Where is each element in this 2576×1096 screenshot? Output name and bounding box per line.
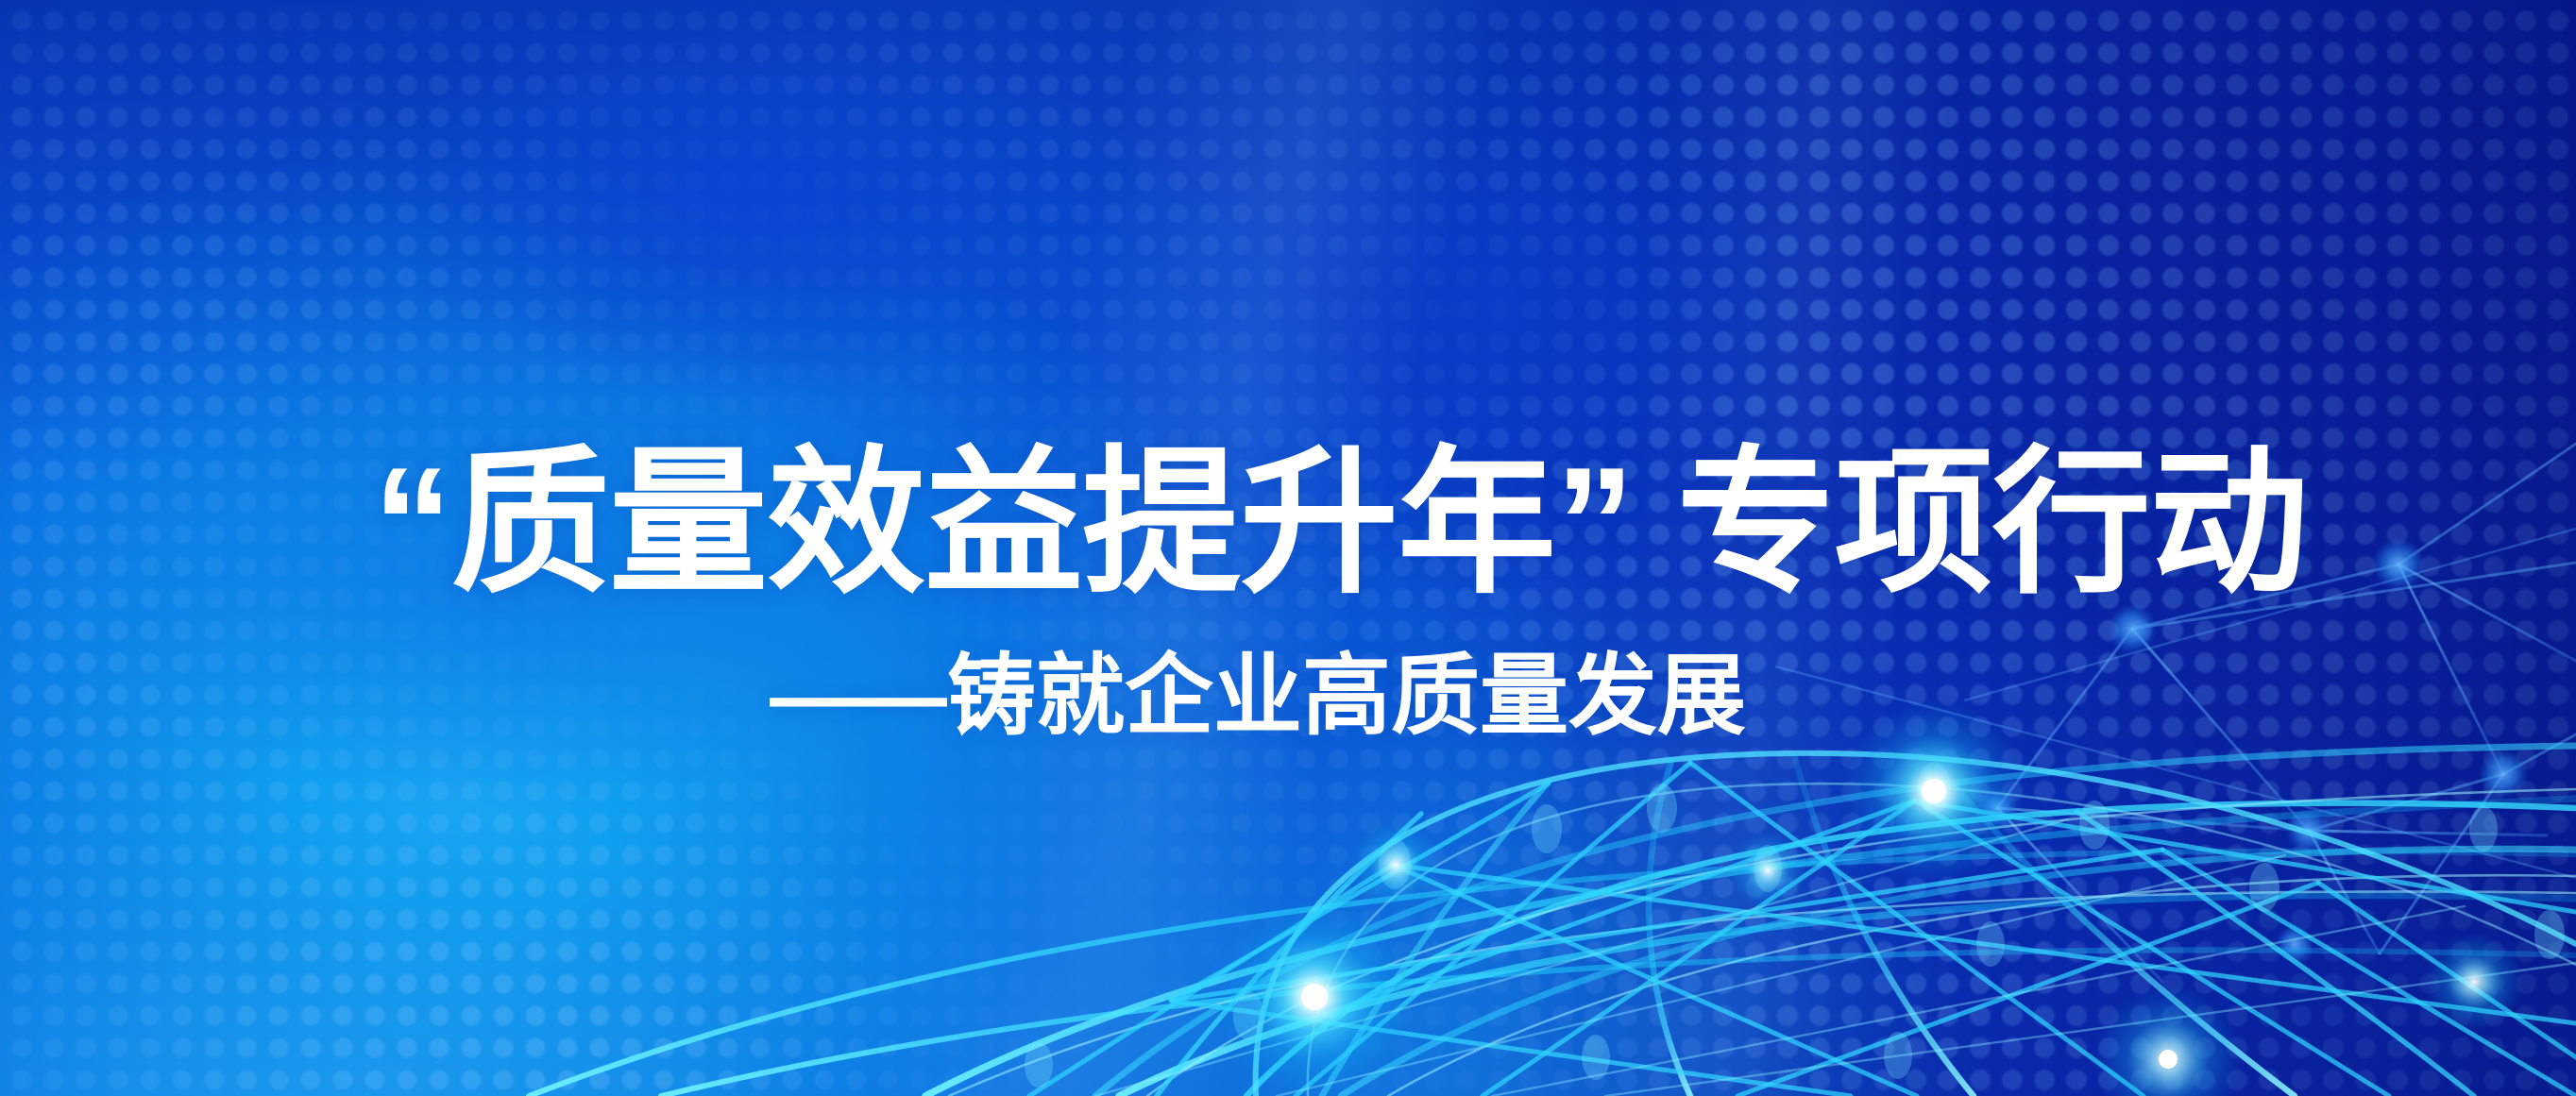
wireframe-globe: [529, 700, 2576, 1096]
promotional-banner: “质量效益提升年” 专项行动 ——铸就企业高质量发展: [0, 0, 2576, 1096]
decorative-artwork: [0, 0, 2576, 1096]
